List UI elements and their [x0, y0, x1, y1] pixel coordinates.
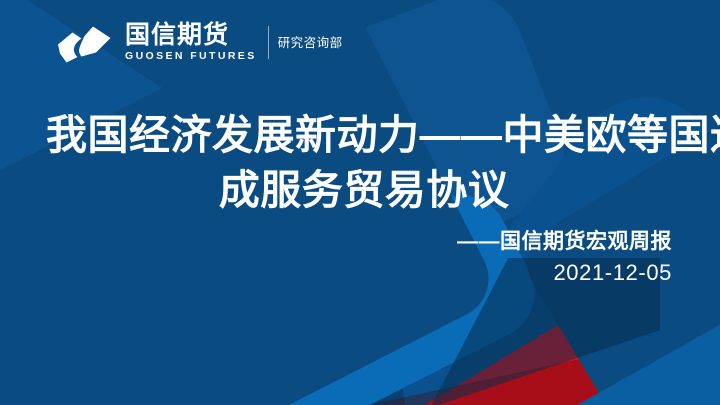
- title-slide: 国信期货 GUOSEN FUTURES 研究咨询部 我国经济发展新动力——中美欧…: [0, 0, 720, 405]
- company-logo: 国信期货 GUOSEN FUTURES 研究咨询部: [52, 16, 343, 70]
- background-wedge-navy-right: [513, 33, 720, 405]
- logo-company-name-en: GUOSEN FUTURES: [125, 49, 257, 63]
- report-meta: ——国信期货宏观周报 2021-12-05: [457, 228, 672, 289]
- report-source-label: ——国信期货宏观周报: [457, 228, 672, 256]
- logo-divider: [268, 26, 269, 59]
- background-wedge-blue-corner: [570, 319, 720, 405]
- logo-company-name-cn: 国信期货: [125, 23, 257, 49]
- page-title-line-2: 成服务贸易协议: [46, 163, 682, 218]
- logo-text-block: 国信期货 GUOSEN FUTURES 研究咨询部: [125, 23, 343, 63]
- page-title-line-1: 我国经济发展新动力——中美欧等国达: [46, 108, 682, 163]
- guosen-futures-logo-mark: [52, 20, 118, 66]
- background-overlay-red-dark: [300, 300, 720, 405]
- logo-wordmark: 国信期货 GUOSEN FUTURES: [125, 23, 257, 63]
- report-date-label: 2021-12-05: [457, 256, 672, 289]
- logo-department-label: 研究咨询部: [278, 32, 343, 53]
- page-title: 我国经济发展新动力——中美欧等国达 成服务贸易协议: [46, 108, 682, 217]
